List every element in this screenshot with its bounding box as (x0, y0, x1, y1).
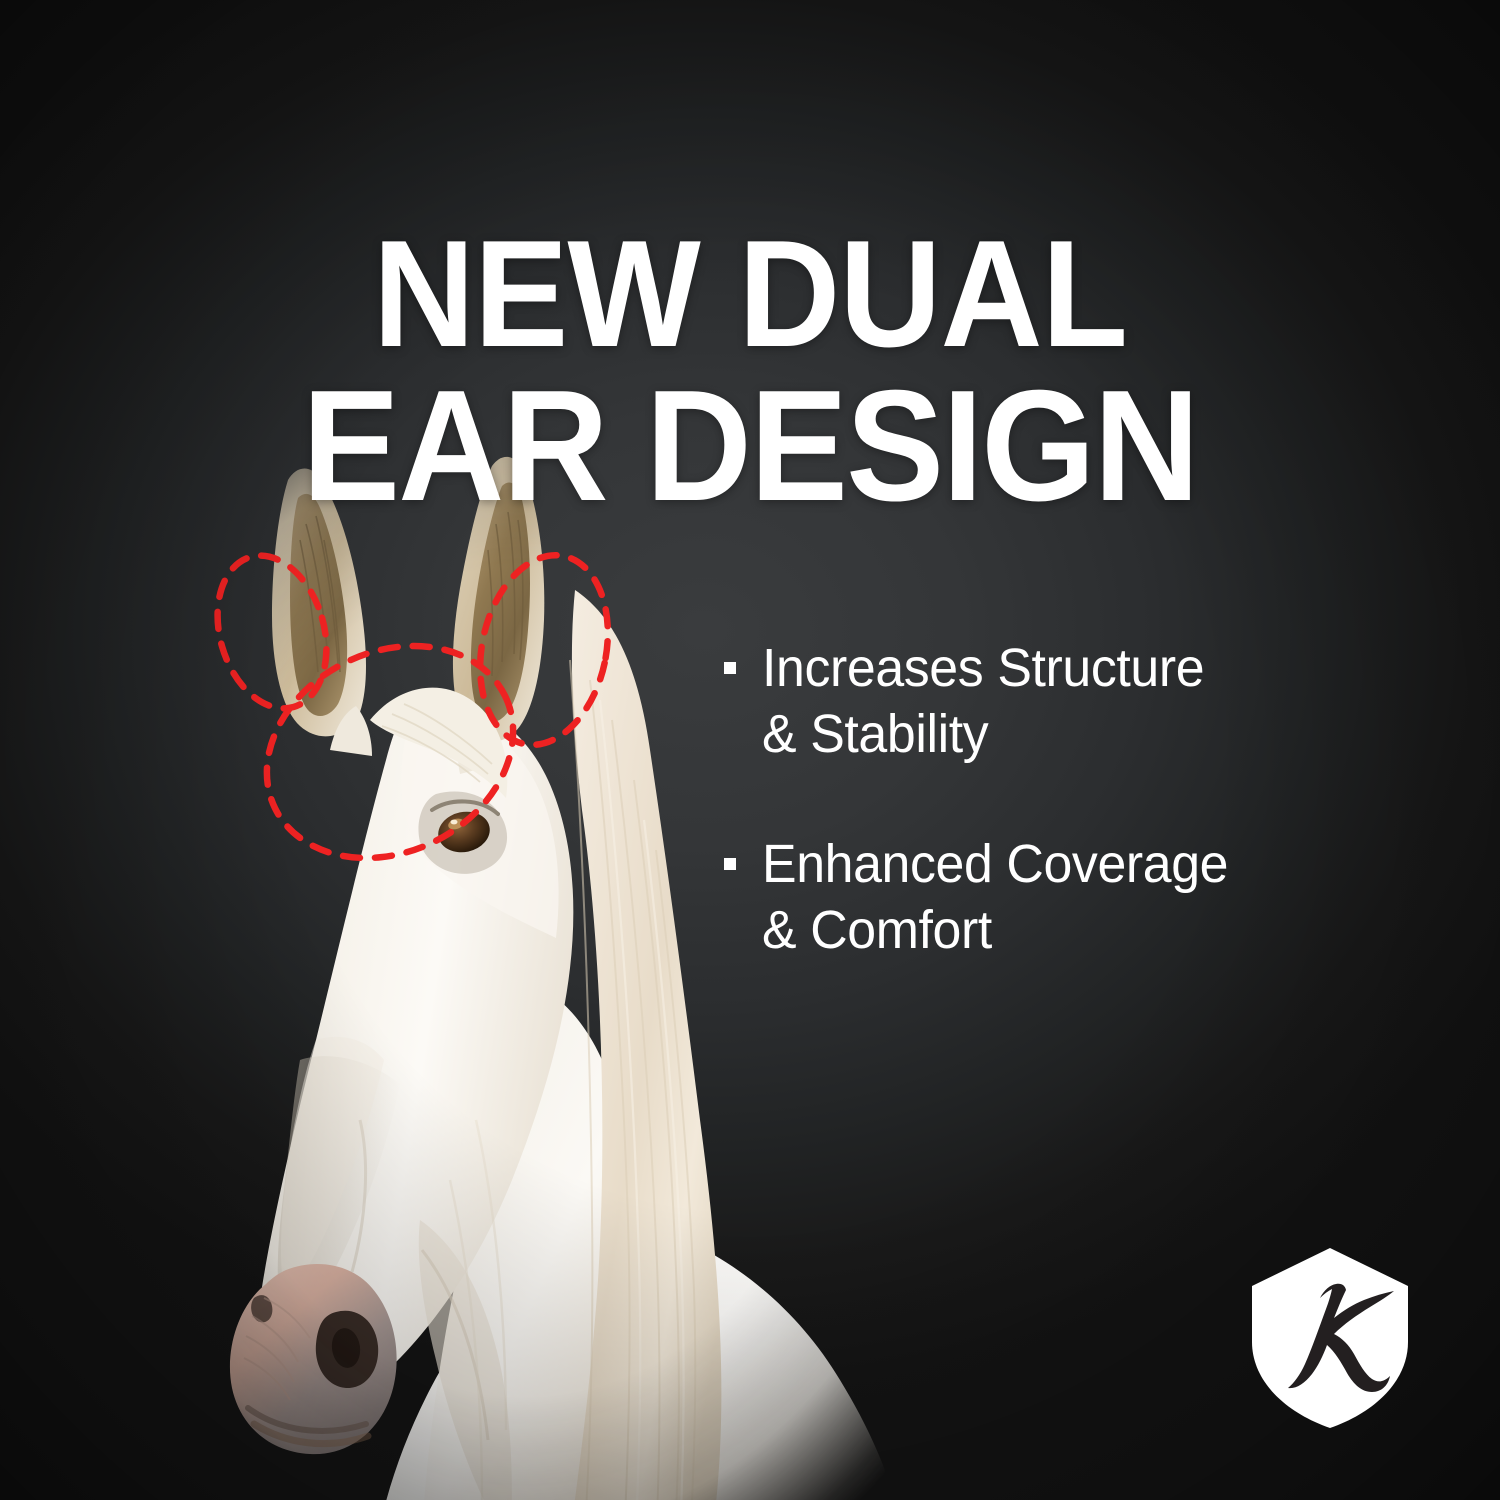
feature-line-2: & Comfort (762, 900, 992, 960)
shield-k-logo-icon (1242, 1246, 1418, 1430)
headline-line-2: EAR DESIGN (53, 369, 1448, 524)
headline-line-1: NEW DUAL (53, 220, 1448, 369)
promo-banner: NEW DUAL EAR DESIGN Increases Structure … (0, 0, 1500, 1500)
page-title: NEW DUAL EAR DESIGN (53, 220, 1448, 524)
feature-text: Increases Structure & Stability (762, 636, 1204, 768)
square-bullet-icon (724, 662, 736, 674)
feature-text: Enhanced Coverage & Comfort (762, 832, 1228, 964)
feature-list: Increases Structure & Stability Enhanced… (724, 636, 1424, 964)
feature-line-1: Enhanced Coverage (762, 834, 1228, 894)
feature-line-1: Increases Structure (762, 638, 1204, 698)
feature-line-2: & Stability (762, 704, 988, 764)
list-item: Increases Structure & Stability (724, 636, 1424, 768)
square-bullet-icon (724, 858, 736, 870)
list-item: Enhanced Coverage & Comfort (724, 832, 1424, 964)
